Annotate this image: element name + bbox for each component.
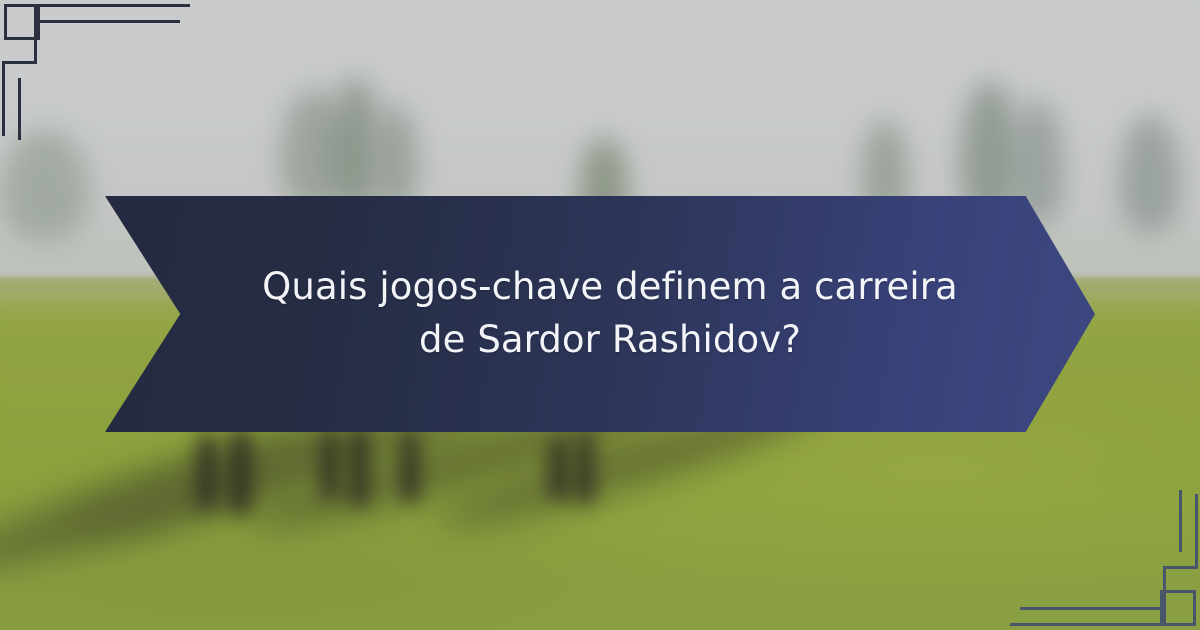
corner-line-horizontal-inner	[1020, 607, 1166, 610]
corner-line-vertical-outer	[2, 61, 5, 136]
corner-line-horizontal-outer	[34, 4, 190, 7]
corner-line-horizontal-step	[1163, 566, 1198, 569]
corner-bracket-bottom-right	[1030, 502, 1200, 630]
corner-line-vertical-step	[34, 4, 37, 64]
corner-line-vertical-inner	[1179, 490, 1182, 552]
corner-line-vertical-outer	[1195, 494, 1198, 569]
corner-line-horizontal-outer	[1010, 623, 1166, 626]
banner-card: Quais jogos-chave definem a carreira de …	[0, 0, 1200, 630]
corner-line-vertical-step	[1163, 566, 1166, 626]
chevron-banner: Quais jogos-chave definem a carreira de …	[105, 196, 1095, 432]
corner-line-horizontal-inner	[34, 20, 180, 23]
corner-bracket-top-left	[0, 0, 170, 128]
banner-headline: Quais jogos-chave definem a carreira de …	[250, 261, 970, 366]
corner-line-vertical-inner	[18, 78, 21, 140]
corner-line-horizontal-step	[2, 61, 37, 64]
